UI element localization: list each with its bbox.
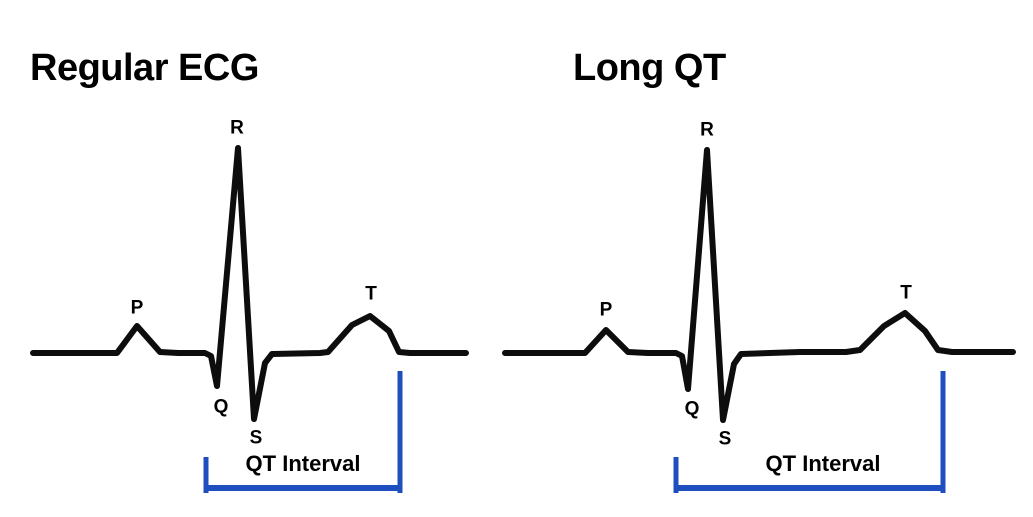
ecg-trace-long-qt bbox=[505, 150, 1013, 420]
ecg-comparison-figure: Regular ECG Long QT PQRSTQT IntervalPQRS… bbox=[0, 0, 1033, 517]
qt-interval-label-regular: QT Interval bbox=[246, 453, 361, 475]
wave-label-q-regular: Q bbox=[214, 398, 229, 417]
wave-label-q-longqt: Q bbox=[685, 400, 700, 419]
wave-label-s-longqt: S bbox=[719, 430, 732, 449]
wave-label-t-regular: T bbox=[365, 285, 377, 304]
wave-label-p-regular: P bbox=[131, 299, 144, 318]
wave-label-r-longqt: R bbox=[700, 121, 714, 140]
ecg-waveform-canvas bbox=[0, 0, 1033, 517]
qt-interval-label-longqt: QT Interval bbox=[766, 453, 881, 475]
wave-label-s-regular: S bbox=[250, 429, 263, 448]
wave-label-r-regular: R bbox=[230, 119, 244, 138]
wave-label-t-longqt: T bbox=[900, 284, 912, 303]
wave-label-p-longqt: P bbox=[600, 301, 613, 320]
